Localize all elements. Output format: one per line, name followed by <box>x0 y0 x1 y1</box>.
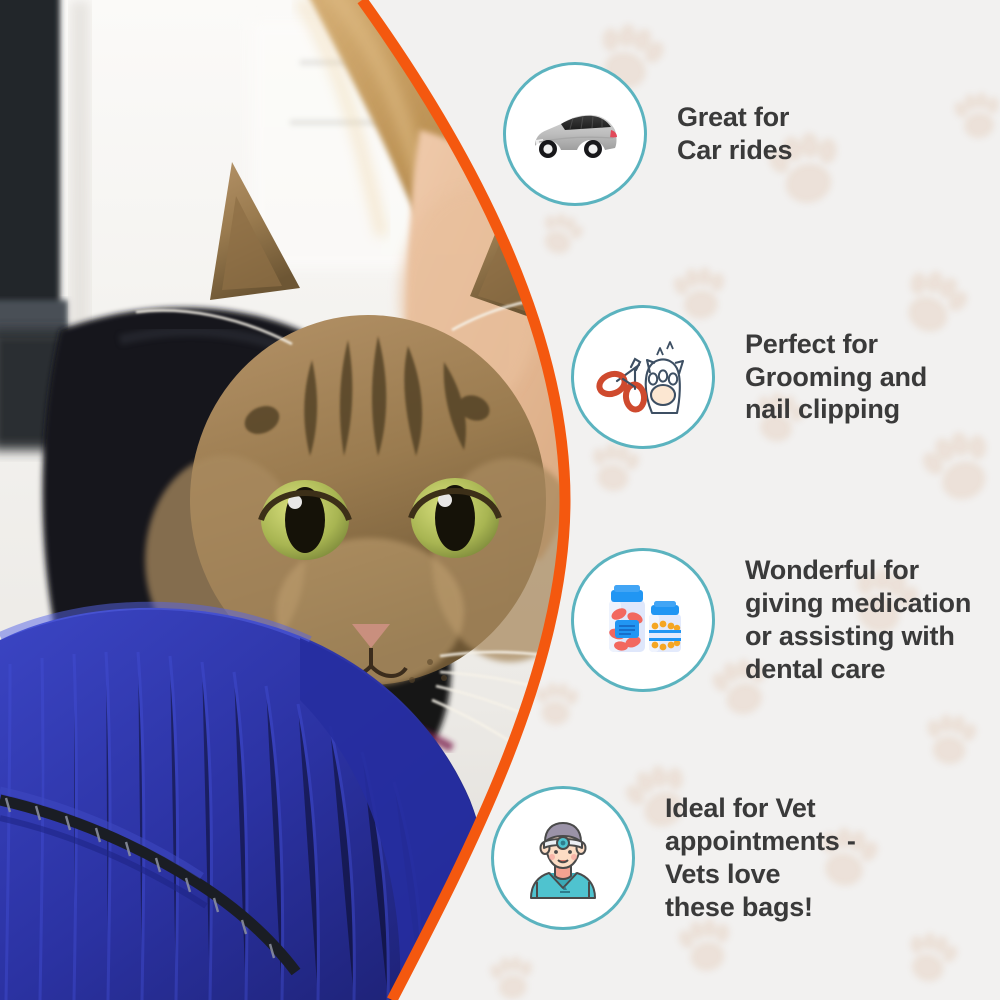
car-icon <box>527 86 623 182</box>
cat-eye-right <box>411 478 499 558</box>
feature-label: Great for Car rides <box>677 101 792 167</box>
feature-label: Ideal for Vet appointments - Vets love t… <box>665 792 856 924</box>
feature-item-medication: Wonderful for giving medication or assis… <box>571 548 971 692</box>
feature-item-car-rides: Great for Car rides <box>503 62 792 206</box>
pill-bottles-icon <box>595 572 691 668</box>
pill-bottles-icon-circle <box>571 548 715 692</box>
cat-eye-left <box>261 480 349 560</box>
car-icon-circle <box>503 62 647 206</box>
feature-item-grooming: Perfect for Grooming and nail clipping <box>571 305 927 449</box>
infographic-canvas: Great for Car rides <box>0 0 1000 1000</box>
nail-clippers-paw-icon-circle <box>571 305 715 449</box>
feature-item-vet: Ideal for Vet appointments - Vets love t… <box>491 786 856 930</box>
feature-label: Perfect for Grooming and nail clipping <box>745 328 927 427</box>
veterinarian-icon <box>515 810 611 906</box>
nail-clippers-paw-icon <box>595 329 691 425</box>
veterinarian-icon-circle <box>491 786 635 930</box>
feature-label: Wonderful for giving medication or assis… <box>745 554 971 686</box>
